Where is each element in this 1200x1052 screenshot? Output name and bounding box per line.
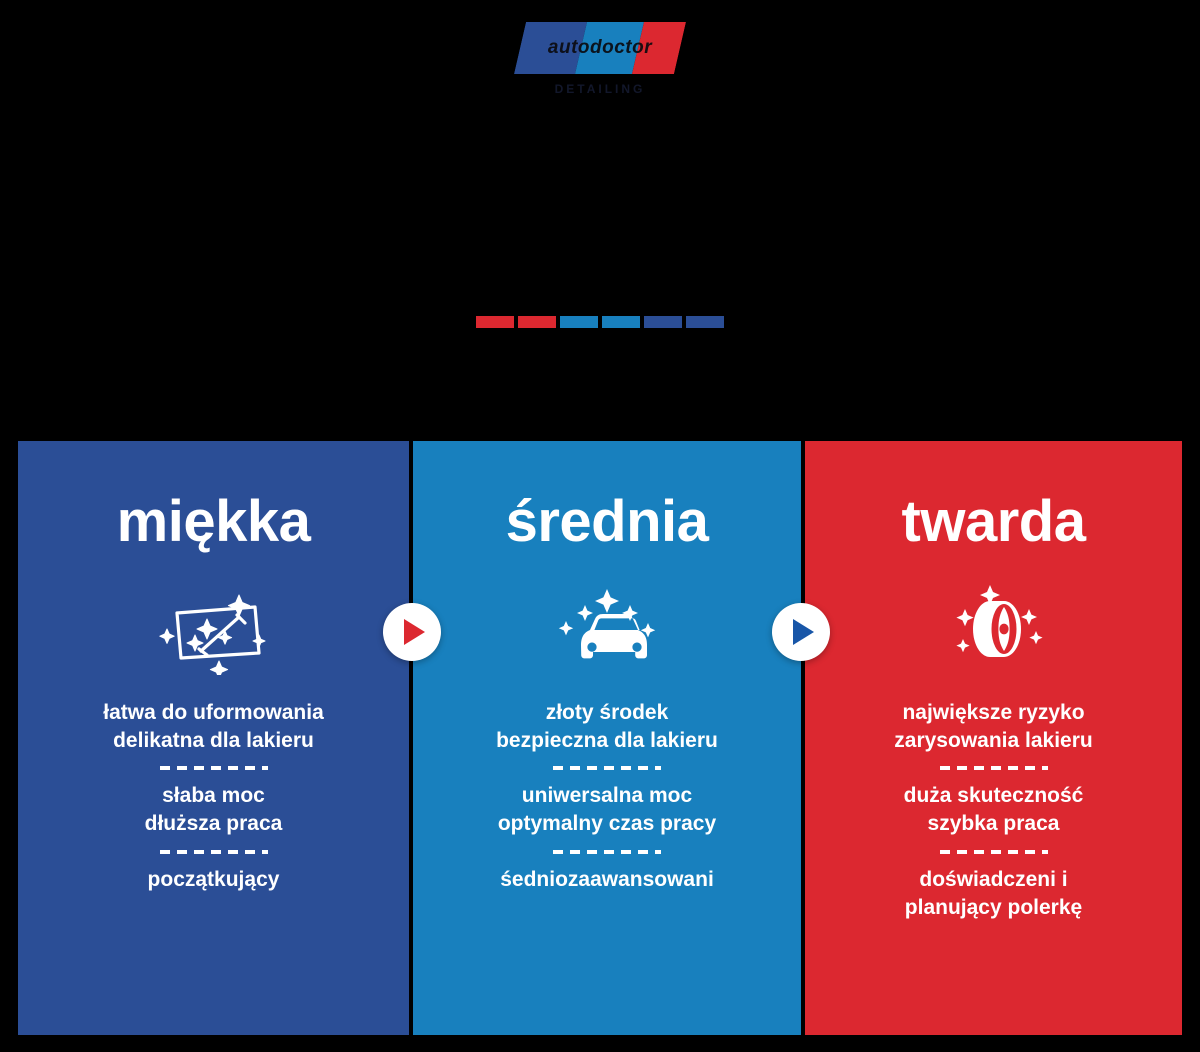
infographic-page: autodoctor detailing miękka bbox=[0, 0, 1200, 1052]
color-chip-label bbox=[644, 316, 682, 328]
color-chip-label bbox=[560, 316, 598, 328]
color-chip bbox=[686, 316, 724, 328]
feature-divider bbox=[940, 766, 1048, 770]
color-chip-strip bbox=[0, 316, 1200, 328]
arrow-medium-to-hard[interactable] bbox=[772, 603, 830, 661]
panel-medium-features: złoty środek bezpieczna dla lakieru uniw… bbox=[427, 699, 787, 894]
feature-divider bbox=[553, 850, 661, 854]
feature-text: duża skuteczność szybka praca bbox=[904, 782, 1084, 837]
panel-hard-title: twarda bbox=[902, 493, 1086, 551]
panel-soft-title: miękka bbox=[117, 493, 311, 551]
feature-divider bbox=[940, 850, 1048, 854]
color-chip-label bbox=[686, 316, 724, 328]
panel-medium-title: średnia bbox=[506, 493, 709, 551]
feature-text: słaba moc dłuższa praca bbox=[145, 782, 283, 837]
feature-text: uniwersalna moc optymalny czas pracy bbox=[498, 782, 716, 837]
comparison-panels: miękka łatwa do uformowania deli bbox=[18, 441, 1182, 1035]
brand-logo: autodoctor detailing bbox=[0, 22, 1200, 96]
logo-subtitle: detailing bbox=[555, 82, 646, 96]
panel-medium[interactable]: średnia złoty środek bezpieczna dla laki… bbox=[413, 441, 801, 1035]
logo-wordmark: autodoctor bbox=[520, 22, 680, 74]
panel-soft[interactable]: miękka łatwa do uformowania deli bbox=[18, 441, 409, 1035]
color-chip bbox=[644, 316, 682, 328]
sparkling-tire-icon bbox=[935, 581, 1053, 677]
color-chip bbox=[518, 316, 556, 328]
color-chip bbox=[602, 316, 640, 328]
color-chip bbox=[476, 316, 514, 328]
feature-text: początkujący bbox=[148, 866, 280, 894]
feature-text: złoty środek bezpieczna dla lakieru bbox=[496, 699, 718, 754]
color-chip-label bbox=[476, 316, 514, 328]
panel-hard-features: największe ryzyko zarysowania lakieru du… bbox=[819, 699, 1168, 921]
play-triangle-icon bbox=[793, 619, 814, 645]
panel-hard[interactable]: twarda największe ryzyko zarysowania lak… bbox=[805, 441, 1182, 1035]
feature-divider bbox=[553, 766, 661, 770]
color-chip-label bbox=[602, 316, 640, 328]
panel-soft-features: łatwa do uformowania delikatna dla lakie… bbox=[32, 699, 395, 894]
sparkling-car-icon bbox=[548, 581, 666, 677]
feature-text: śedniozaawansowani bbox=[500, 866, 714, 894]
feature-text: łatwa do uformowania delikatna dla lakie… bbox=[103, 699, 324, 754]
feature-text: największe ryzyko zarysowania lakieru bbox=[894, 699, 1092, 754]
play-triangle-icon bbox=[404, 619, 425, 645]
feature-divider bbox=[160, 766, 268, 770]
logo-banner: autodoctor bbox=[514, 22, 686, 74]
feature-text: doświadczeni i planujący polerkę bbox=[905, 866, 1082, 921]
feature-divider bbox=[160, 850, 268, 854]
sparkling-pad-icon bbox=[155, 581, 273, 677]
color-chip-label bbox=[518, 316, 556, 328]
color-chip bbox=[560, 316, 598, 328]
arrow-soft-to-medium[interactable] bbox=[383, 603, 441, 661]
